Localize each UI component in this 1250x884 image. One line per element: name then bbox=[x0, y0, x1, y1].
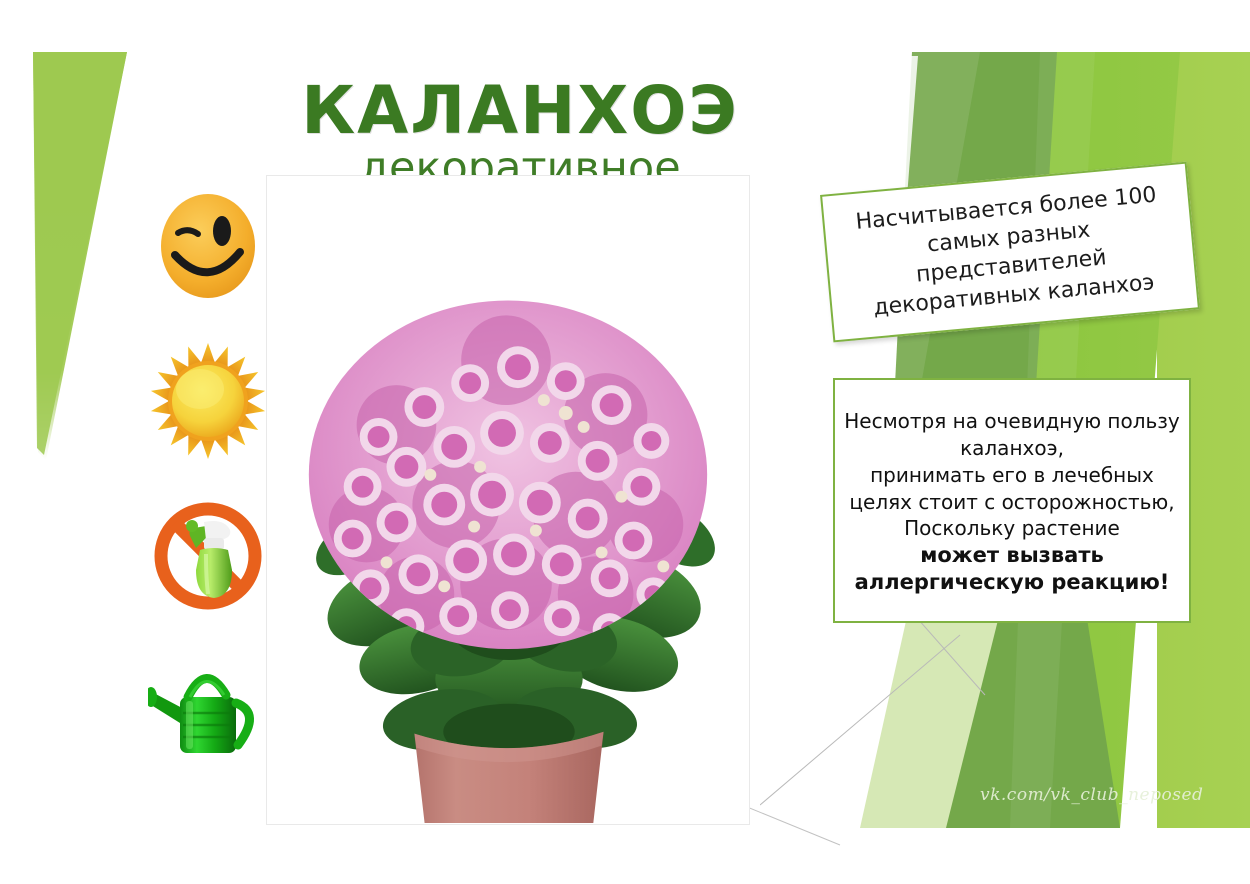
warning-line: целях стоит с осторожностью, bbox=[849, 489, 1174, 516]
kalanchoe-photo-frame bbox=[266, 175, 750, 825]
warning-callout-box: Несмотря на очевидную пользу каланхоэ, п… bbox=[833, 378, 1191, 623]
watering-can-icon bbox=[148, 651, 268, 771]
care-icon-column bbox=[148, 186, 268, 806]
fact-callout-box: Насчитывается более 100 самых разных пре… bbox=[820, 162, 1200, 343]
page-title: КАЛАНХОЭ bbox=[250, 78, 790, 144]
winking-smiley-icon bbox=[148, 186, 268, 306]
sun-icon bbox=[148, 341, 268, 461]
no-spraying-icon bbox=[148, 496, 268, 616]
spray-bottle bbox=[186, 520, 232, 598]
poster-canvas: КАЛАНХОЭ декоративное bbox=[0, 0, 1250, 884]
warning-line-emphasis: аллергическую реакцию! bbox=[855, 569, 1170, 596]
warning-line-emphasis: может вызвать bbox=[920, 542, 1104, 569]
watermark: vk.com/vk_club_neposed bbox=[980, 785, 1203, 805]
kalanchoe-photo bbox=[267, 176, 749, 823]
warning-line: каланхоэ, bbox=[960, 435, 1064, 462]
warning-line: Несмотря на очевидную пользу bbox=[844, 408, 1180, 435]
decor-hairline bbox=[760, 600, 1120, 840]
warning-line: принимать его в лечебных bbox=[870, 462, 1154, 489]
warning-line: Поскольку растение bbox=[904, 515, 1120, 542]
